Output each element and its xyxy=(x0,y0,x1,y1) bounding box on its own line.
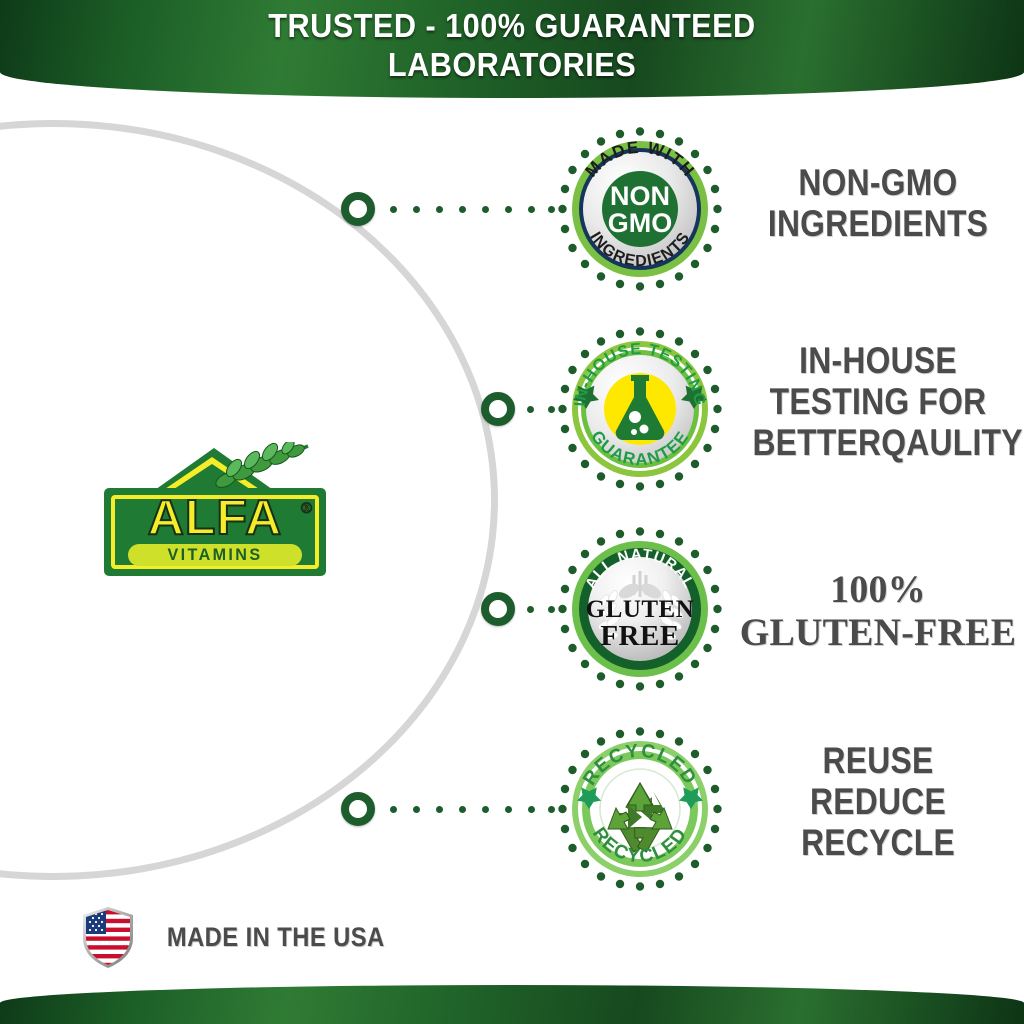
feature-row-recycled: RECYCLED RECYCLED REUSE REDUCE RECYCLE xyxy=(0,720,1024,910)
label-line: IN-HOUSE xyxy=(752,340,1003,381)
feature-row-gluten-free: ALL NATURAL GLUTEN FREE 100% GLUTEN-FREE xyxy=(0,520,1024,710)
label-line: NON-GMO xyxy=(752,162,1003,203)
connector-node-4 xyxy=(341,792,375,826)
feature-row-non-gmo: MADE WITH INGREDIENTS NON GMO NON-GMO IN… xyxy=(0,120,1024,310)
badge-center-line2: GMO xyxy=(608,208,673,238)
footer-banner xyxy=(0,985,1024,1024)
label-line: INGREDIENTS xyxy=(752,203,1003,244)
badge-center-line2: FREE xyxy=(600,620,679,652)
dot-leader-4 xyxy=(390,806,555,813)
made-in-usa-block: MADE IN THE USA xyxy=(78,905,408,971)
non-gmo-badge: MADE WITH INGREDIENTS NON GMO xyxy=(556,125,724,293)
infographic-page: TRUSTED - 100% GUARANTEED LABORATORIES xyxy=(0,0,1024,1024)
made-in-usa-text: MADE IN THE USA xyxy=(167,922,385,952)
dot-leader-2 xyxy=(527,406,555,413)
dot-leader-3 xyxy=(527,606,555,613)
usa-shield-icon xyxy=(78,905,138,969)
label-line: GLUTEN-FREE xyxy=(736,611,1019,654)
header-title-line2: LABORATORIES xyxy=(36,45,988,84)
feature-label-in-house-testing: IN-HOUSE TESTING FOR BETTERQAULITY xyxy=(752,340,1003,463)
in-house-testing-badge: IN-HOUSE TESTING GUARANTEE xyxy=(556,325,724,493)
gluten-free-badge: ALL NATURAL GLUTEN FREE xyxy=(556,525,724,693)
label-line: BETTERQAULITY xyxy=(752,422,1003,463)
feature-row-in-house-testing: IN-HOUSE TESTING GUARANTEE IN-HOUSE TEST… xyxy=(0,320,1024,510)
dot-leader-1 xyxy=(390,206,555,213)
label-line: REUSE xyxy=(752,740,1003,781)
badge-center-line1: GLUTEN xyxy=(586,596,695,623)
connector-node-3 xyxy=(481,592,515,626)
label-line: 100% xyxy=(736,568,1019,611)
badge-center-line1: NON xyxy=(610,181,670,211)
connector-node-2 xyxy=(481,392,515,426)
header-title-line1: TRUSTED - 100% GUARANTEED xyxy=(36,6,988,45)
feature-label-gluten-free: 100% GLUTEN-FREE xyxy=(736,568,1019,654)
header-title: TRUSTED - 100% GUARANTEED LABORATORIES xyxy=(36,6,988,84)
label-line: TESTING FOR xyxy=(752,381,1003,422)
label-line: REDUCE xyxy=(752,781,1003,822)
feature-label-non-gmo: NON-GMO INGREDIENTS xyxy=(752,162,1003,244)
feature-label-recycled: REUSE REDUCE RECYCLE xyxy=(752,740,1003,863)
label-line: RECYCLE xyxy=(752,822,1003,863)
recycled-badge: RECYCLED RECYCLED xyxy=(556,725,724,893)
connector-node-1 xyxy=(341,192,375,226)
